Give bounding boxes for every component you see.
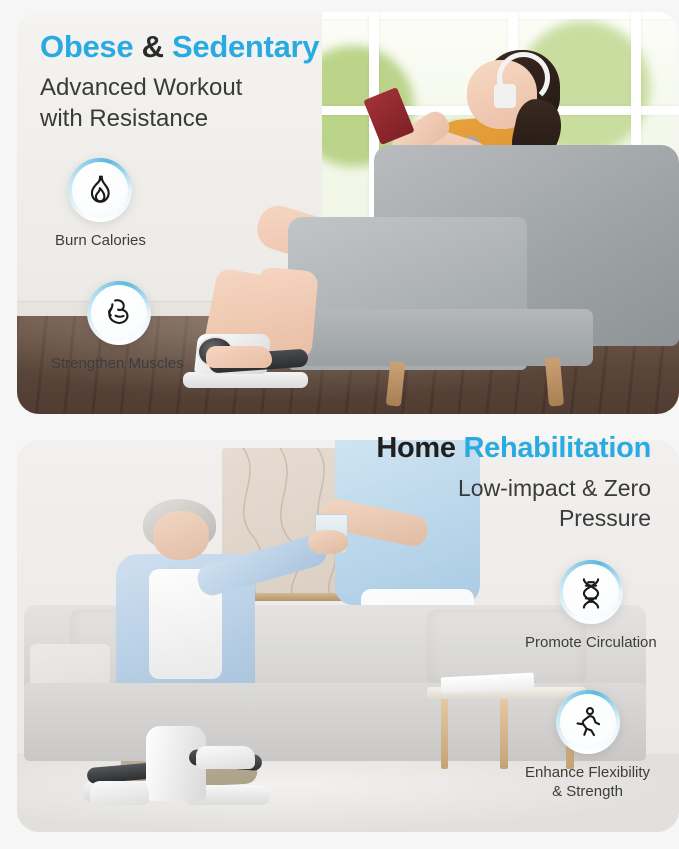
bottom-subtitle: Low-impact & Zero Pressure (321, 473, 651, 533)
badge-ring (87, 281, 151, 345)
badge-ring (556, 690, 620, 754)
elderly-face (153, 511, 209, 560)
side-table-leg-1 (441, 699, 448, 770)
armchair-seat (282, 309, 593, 365)
top-subtitle-line-2: with Resistance (40, 103, 360, 134)
dna-helix-icon (574, 575, 608, 609)
top-headline-word-1: Obese (40, 29, 133, 64)
bicep-icon (102, 296, 136, 330)
top-subtitle-line-1: Advanced Workout (40, 72, 360, 103)
badge-ring (68, 158, 132, 222)
elderly-hand (308, 530, 348, 554)
person-foot (206, 346, 272, 368)
flame-icon (83, 173, 117, 207)
running-person-icon (571, 705, 605, 739)
bottom-headline: Home Rehabilitation (376, 430, 651, 466)
feature-label: Burn Calories (55, 231, 146, 250)
bottom-subtitle-line-1: Low-impact & Zero (321, 473, 651, 503)
top-headline: Obese & Sedentary (40, 28, 319, 66)
elderly-shoe-left (90, 781, 150, 805)
side-table-leg-2 (500, 699, 507, 770)
feature-burn-calories: Burn Calories (55, 158, 146, 250)
bottom-headline-word-2: Rehabilitation (463, 432, 651, 464)
product-feature-graphic: Obese & Sedentary Advanced Workout with … (0, 0, 679, 849)
elderly-shoe-right (196, 746, 256, 770)
feature-label: Strengthen Muscles (51, 354, 184, 373)
feature-promote-circulation: Promote Circulation (525, 560, 657, 652)
top-headline-ampersand: & (142, 29, 164, 64)
bottom-subtitle-line-2: Pressure (321, 503, 651, 533)
headphone-earpad (494, 84, 517, 108)
feature-strengthen-muscles: Strengthen Muscles (55, 281, 184, 373)
feature-label: Enhance Flexibility & Strength (525, 763, 650, 801)
top-subtitle: Advanced Workout with Resistance (40, 72, 360, 134)
feature-label: Promote Circulation (525, 633, 657, 652)
feature-enhance-flexibility: Enhance Flexibility & Strength (525, 690, 650, 801)
badge-ring (559, 560, 623, 624)
elliptical-base (183, 372, 309, 388)
bottom-headline-word-1: Home (376, 432, 455, 464)
window-frame-top (282, 12, 679, 19)
top-headline-word-2: Sedentary (172, 29, 319, 64)
